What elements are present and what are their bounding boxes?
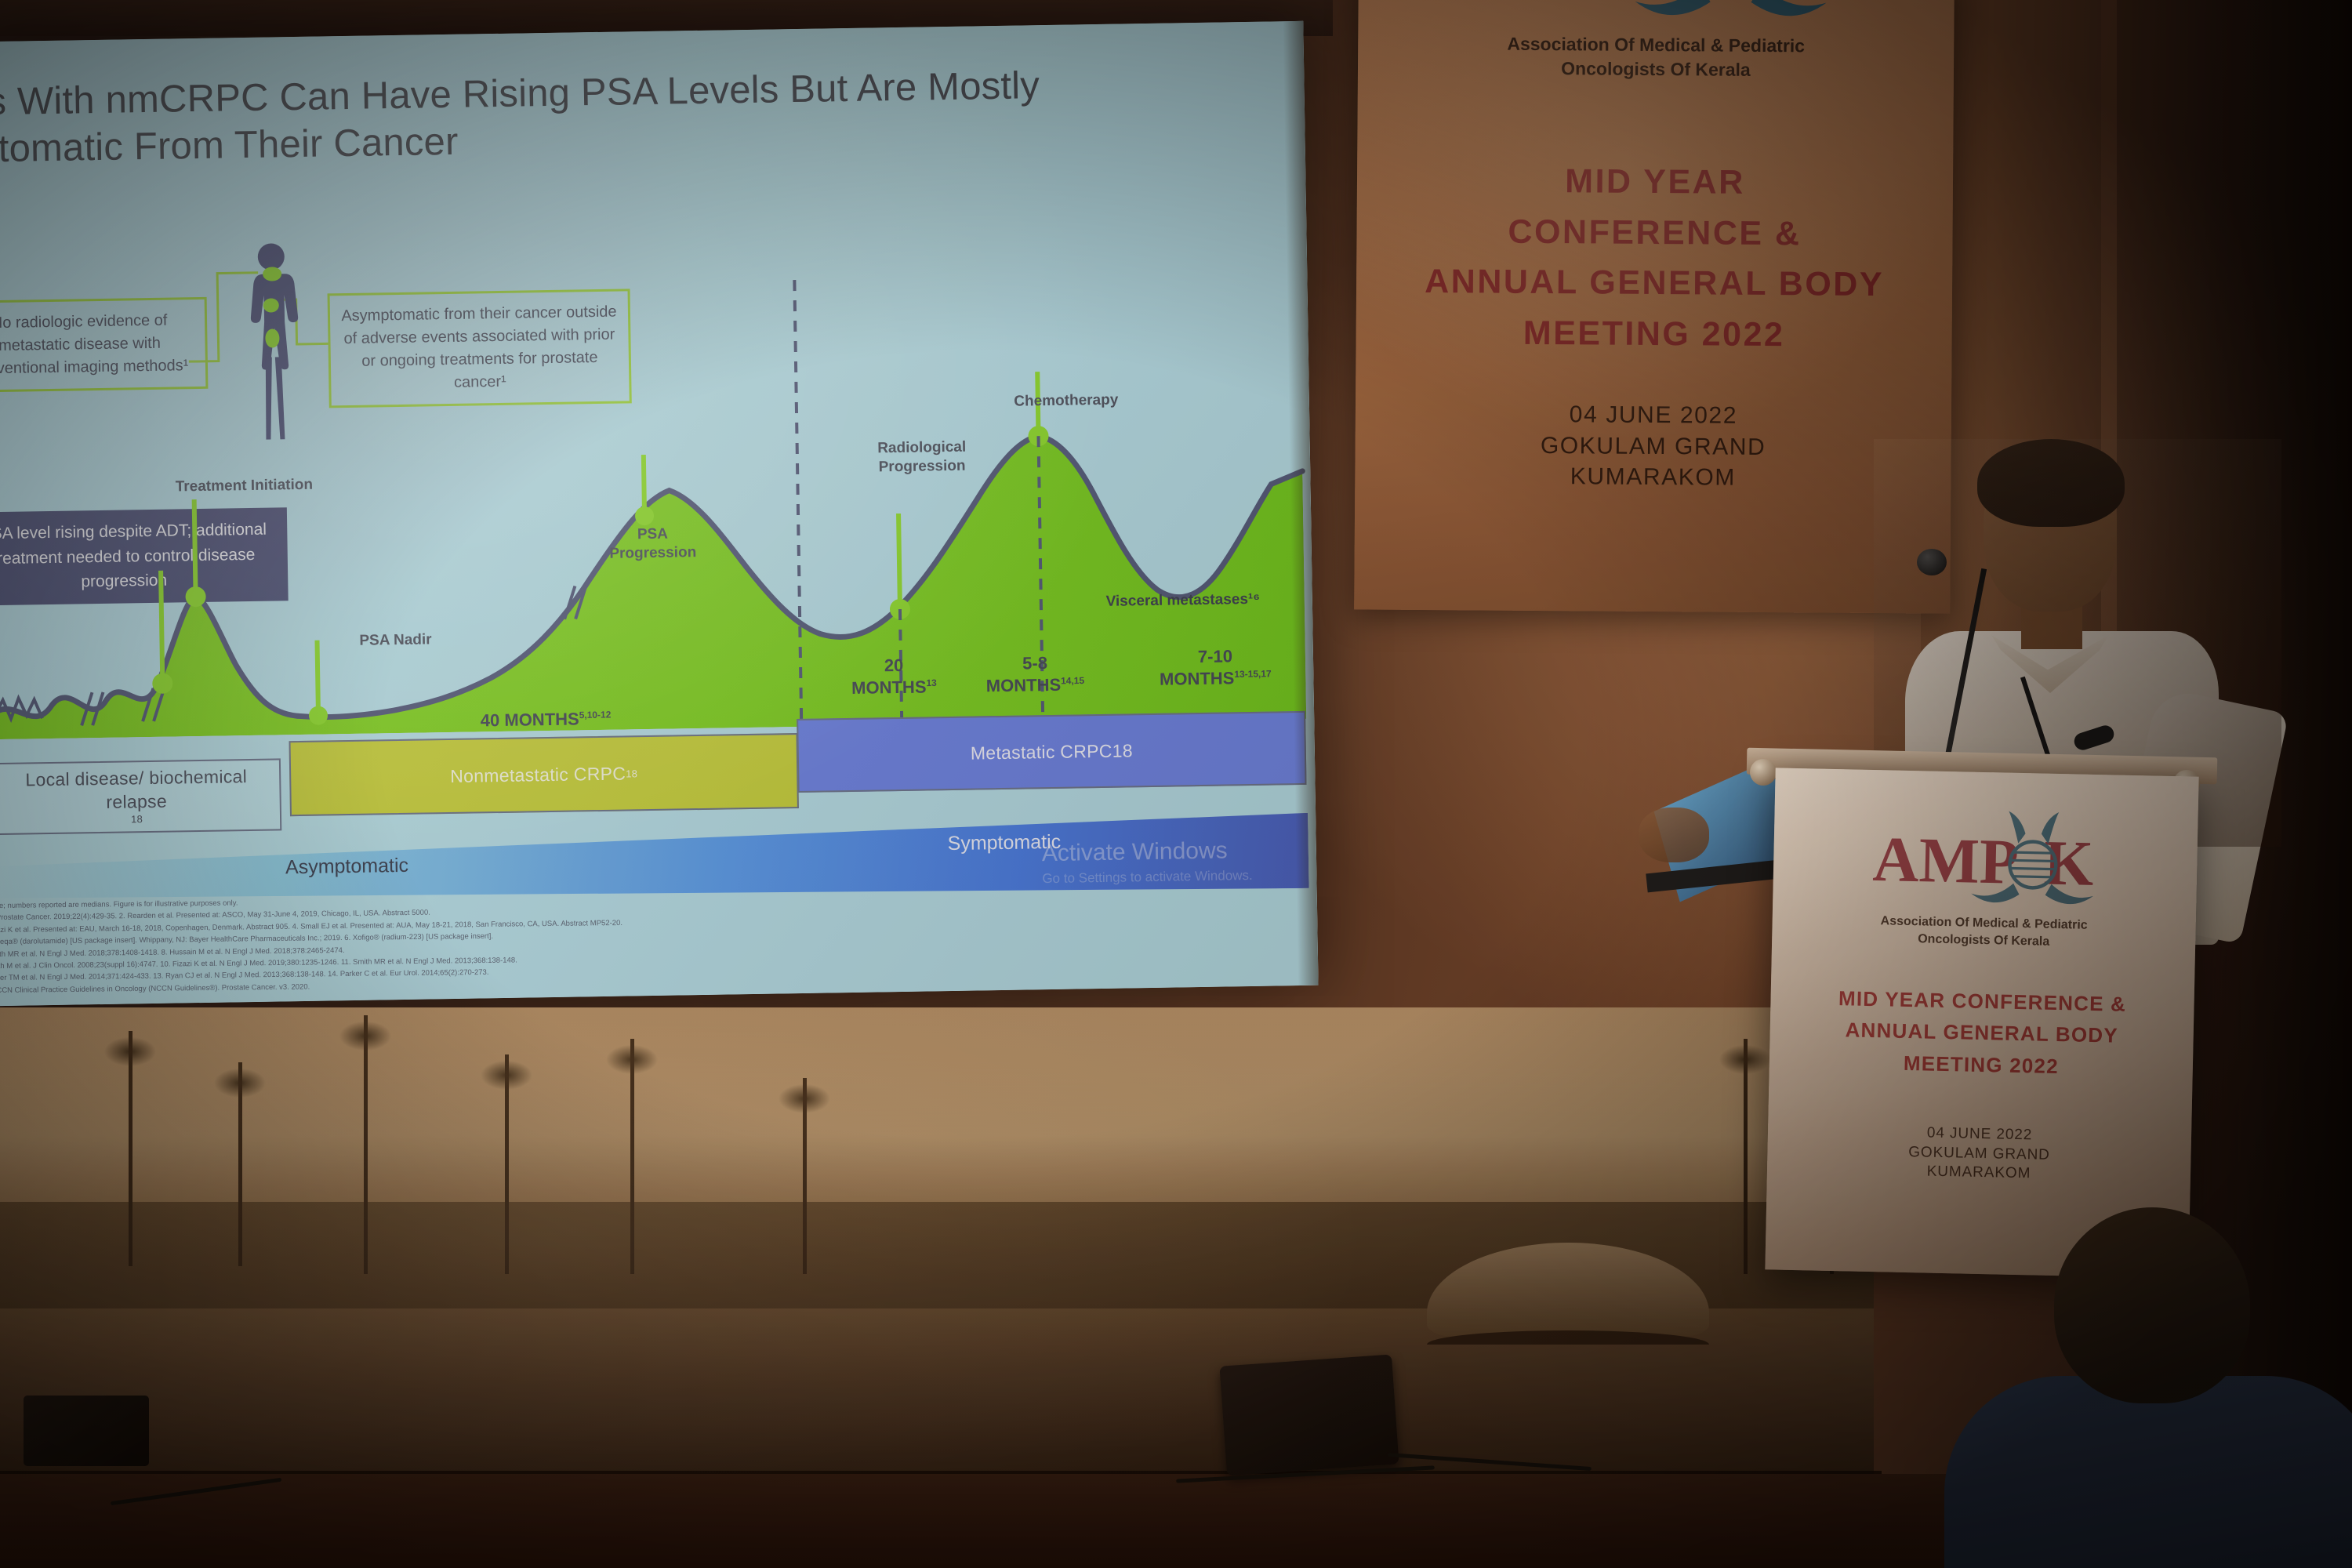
duration-710-sup: 13-15,17 (1234, 668, 1272, 680)
label-psa-nadir: PSA Nadir (332, 630, 458, 651)
audience-head (2054, 1207, 2250, 1403)
duration-40-months-sup: 5,10-12 (579, 709, 612, 720)
floor-equipment-case (24, 1396, 149, 1466)
duration-5-8-months: 5-8 MONTHS14,15 (964, 652, 1106, 697)
floor-speaker-cabinet (1219, 1354, 1399, 1475)
audience-member-foreground (1952, 1207, 2352, 1568)
callout-asymptomatic: Asymptomatic from their cancer outside o… (328, 289, 632, 408)
windows-activation-watermark: Activate Windows Go to Settings to activ… (1042, 837, 1253, 887)
activate-windows-title: Activate Windows (1042, 837, 1253, 866)
duration-20-unit: MONTHS (851, 677, 927, 697)
duration-20-months: 20 MONTHS13 (831, 654, 957, 699)
label-asymptomatic: Asymptomatic (285, 855, 408, 879)
duration-7-10-months: 7-10 MONTHS13-15,17 (1125, 644, 1306, 691)
banner-shading (1354, 0, 1955, 614)
duration-40-months: 40 MONTHS5,10-12 (428, 707, 663, 732)
stage-bar-nonmetastatic-crpc: Nonmetastatic CRPC18 (289, 733, 799, 816)
duration-58-sup: 14,15 (1061, 674, 1084, 685)
podium-shading (1765, 768, 2198, 1278)
podium-knob-left (1750, 759, 1777, 786)
podium-front-panel: AMP K Association Of M (1765, 768, 2198, 1278)
stage-bar-nm-label: Nonmetastatic CRPC (450, 763, 626, 787)
duration-20-sup: 13 (926, 677, 937, 688)
label-visceral-metastases: Visceral metastases¹⁶ (1069, 590, 1297, 612)
projection-screen: ients With nmCRPC Can Have Rising PSA Le… (0, 21, 1319, 1006)
duration-40-months-text: 40 MONTHS (481, 709, 579, 730)
callout-no-radiologic-evidence: No radiologic evidence of metastatic dis… (0, 297, 208, 393)
label-psa-progression: PSA Progression (597, 524, 708, 564)
presenter-left-hand (1639, 808, 1709, 862)
label-treatment-initiation: Treatment Initiation (142, 475, 346, 497)
stage-bar-local-label: Local disease/ biochemical relapse (0, 764, 280, 816)
duration-20-value: 20 (884, 655, 904, 675)
ampok-wall-banner: AMP K Association Of M (1354, 0, 1955, 614)
duration-58-unit: MONTHS (986, 674, 1062, 695)
stage-bar-metastatic-crpc: Metastatic CRPC18 (797, 711, 1306, 793)
microphone-head-icon (1917, 549, 1947, 575)
activate-windows-subtitle: Go to Settings to activate Windows. (1042, 868, 1253, 887)
duration-710-value: 7-10 (1198, 646, 1232, 666)
photo-scene: ients With nmCRPC Can Have Rising PSA Le… (0, 0, 2352, 1568)
label-radiological-progression: Radiological Progression (851, 437, 993, 477)
stage-bar-local-disease: Local disease/ biochemical relapse18 (0, 758, 281, 835)
psa-progression-chart (0, 390, 1306, 739)
backwaters-mural (0, 1007, 1874, 1494)
mural-shading (0, 1007, 1874, 1494)
duration-58-value: 5-8 (1022, 653, 1047, 673)
audience-shoulders (1944, 1376, 2352, 1568)
stage-bar-nm-sup: 18 (626, 768, 637, 779)
label-chemotherapy: Chemotherapy (968, 390, 1164, 412)
slide-footnotes: …to scale; numbers reported are medians.… (0, 887, 1147, 996)
duration-710-unit: MONTHS (1160, 668, 1235, 688)
slide-title: ients With nmCRPC Can Have Rising PSA Le… (0, 61, 1149, 174)
stage-bar-local-sup: 18 (131, 814, 143, 827)
